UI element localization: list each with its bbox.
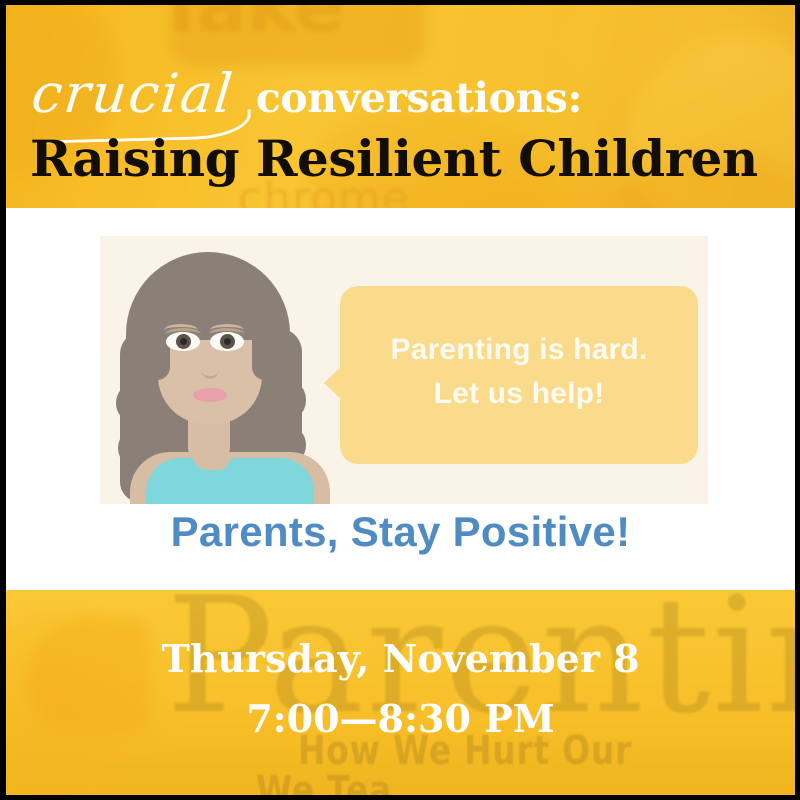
hair-wave-left-upper bbox=[116, 386, 142, 420]
content-band: Parenting is hard. Let us help! Parents,… bbox=[6, 208, 795, 590]
woman-illustration bbox=[100, 236, 360, 504]
title-line-one: crucial conversations: bbox=[32, 67, 582, 129]
eyelid-left bbox=[165, 328, 201, 341]
teal-shirt bbox=[146, 458, 314, 504]
speech-bubble: Parenting is hard. Let us help! bbox=[340, 286, 698, 464]
event-poster: Take chrome crucial conversations: Raisi… bbox=[0, 0, 800, 800]
speech-bubble-line-2: Let us help! bbox=[340, 372, 698, 416]
speech-bubble-text: Parenting is hard. Let us help! bbox=[340, 328, 698, 417]
header-band: Take chrome crucial conversations: Raisi… bbox=[6, 5, 795, 208]
footer-band: Parentin How We Hurt Our We Tea Thursday… bbox=[6, 590, 795, 795]
hair-wave-right-upper bbox=[278, 382, 306, 418]
illustration-panel: Parenting is hard. Let us help! bbox=[100, 236, 708, 504]
footer-watermark-subtitle-2: We Tea bbox=[256, 768, 392, 795]
nose bbox=[201, 360, 219, 379]
poster-inner-frame: Take chrome crucial conversations: Raisi… bbox=[6, 5, 795, 795]
hair-side-right bbox=[252, 288, 278, 380]
speech-bubble-line-1: Parenting is hard. bbox=[340, 328, 698, 372]
title-slab-word: conversations: bbox=[256, 78, 582, 119]
eyelid-right bbox=[209, 328, 245, 341]
page-title: Raising Resilient Children bbox=[30, 129, 758, 189]
tagline: Parents, Stay Positive! bbox=[6, 508, 795, 556]
hair-wave-left-lower bbox=[118, 432, 142, 464]
event-time: 7:00—8:30 PM bbox=[6, 696, 795, 741]
watermark-take-text: Take bbox=[156, 5, 344, 49]
mouth bbox=[193, 388, 227, 402]
event-date: Thursday, November 8 bbox=[6, 636, 795, 681]
